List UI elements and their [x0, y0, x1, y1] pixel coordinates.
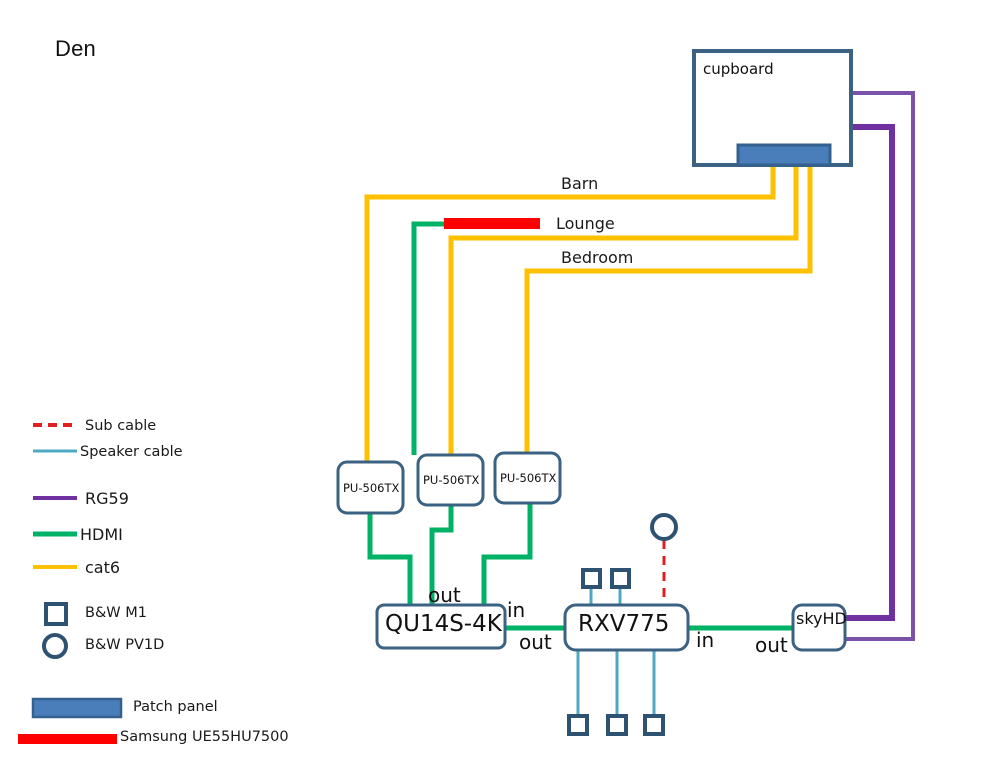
matrix-box[interactable]	[377, 605, 505, 648]
stb-box[interactable]	[793, 605, 845, 650]
hdmi-run-pu1-matrix	[370, 513, 410, 607]
speaker-icon-bottom-1[interactable]	[569, 716, 587, 734]
speaker-icon-top-right[interactable]	[612, 570, 629, 587]
patch-panel[interactable]	[738, 145, 830, 165]
receiver-box[interactable]	[565, 605, 688, 650]
legend-marker-samsung-icon	[18, 734, 117, 744]
room-label-barn: Barn	[561, 174, 598, 193]
legend-markers	[18, 425, 121, 744]
cat6-run-bedroom	[527, 160, 810, 453]
hdmi-cable-group	[370, 224, 793, 628]
legend-marker-patch-panel-icon	[33, 699, 121, 717]
cat6-cable-group	[367, 160, 810, 462]
transmitter-box-1[interactable]	[338, 462, 403, 513]
legend-label-bw-m1: B&W M1	[85, 605, 147, 621]
hdmi-run-pu3-matrix	[484, 503, 530, 607]
hdmi-run-lounge-tv	[414, 224, 444, 455]
samsung-tv-lounge[interactable]	[444, 218, 540, 229]
room-label-lounge: Lounge	[556, 214, 615, 233]
diagram-canvas: Den Barn Lounge Bedroom cupboard PU-506T…	[0, 0, 992, 765]
legend-label-rg59: RG59	[85, 489, 129, 508]
rg59-run-thick	[824, 127, 892, 618]
transmitter-box-2[interactable]	[418, 455, 483, 505]
legend-label-cat6: cat6	[85, 558, 120, 577]
legend-label-patch-panel: Patch panel	[133, 699, 218, 715]
rg59-cable-group	[824, 93, 913, 639]
legend-label-speaker-cable: Speaker cable	[80, 444, 183, 460]
port-label-matrix-out-top: out	[428, 583, 461, 607]
legend-label-samsung-tv: Samsung UE55HU7500	[120, 729, 289, 745]
speaker-icon-top-left[interactable]	[583, 570, 600, 587]
legend-label-hdmi: HDMI	[80, 525, 123, 544]
legend-label-sub-cable: Sub cable	[85, 418, 156, 434]
legend-marker-bw-pv1d-icon	[44, 635, 66, 657]
transmitter-box-3[interactable]	[495, 453, 560, 503]
port-label-stb-out: out	[755, 633, 788, 657]
subwoofer-icon[interactable]	[652, 515, 676, 539]
speaker-icon-bottom-3[interactable]	[645, 716, 663, 734]
port-label-receiver-in: in	[696, 628, 714, 652]
page-title: Den	[55, 36, 96, 62]
cat6-run-lounge	[451, 160, 796, 455]
port-label-matrix-out-right: out	[519, 630, 552, 654]
legend-label-bw-pv1d: B&W PV1D	[85, 637, 164, 653]
port-label-matrix-in: in	[507, 598, 525, 622]
legend-marker-bw-m1-icon	[46, 604, 66, 624]
cat6-run-barn	[367, 160, 773, 462]
room-label-bedroom: Bedroom	[561, 248, 633, 267]
rg59-run-thin	[824, 93, 913, 639]
speaker-icon-bottom-2[interactable]	[608, 716, 626, 734]
